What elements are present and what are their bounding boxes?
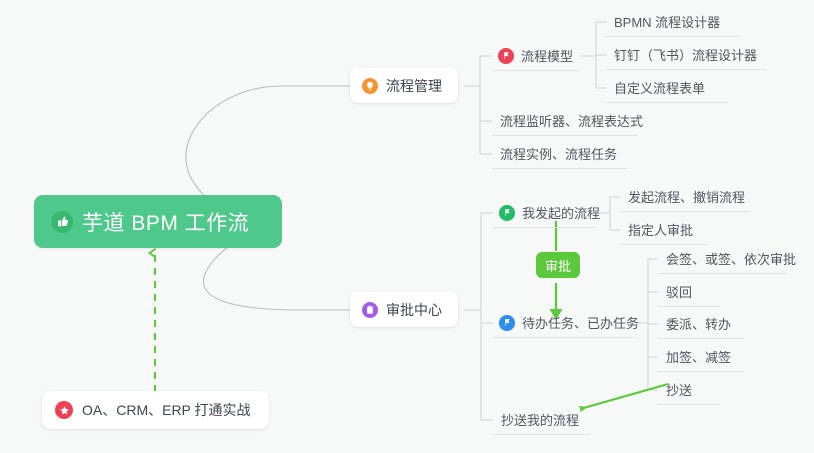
tree-node-reject[interactable]: 驳回 bbox=[658, 277, 720, 307]
clipboard-icon bbox=[362, 302, 378, 318]
tree-node-label: 发起流程、撤销流程 bbox=[628, 187, 745, 206]
branch-label: 流程管理 bbox=[386, 76, 442, 96]
tree-node-label: 流程监听器、流程表达式 bbox=[500, 111, 643, 130]
tree-node-my-initiated[interactable]: 我发起的流程 bbox=[493, 198, 594, 228]
flag-icon bbox=[499, 205, 515, 221]
tree-node-label: 待办任务、已办任务 bbox=[522, 313, 639, 332]
tree-node-dingtalk-designer[interactable]: 钉钉（飞书）流程设计器 bbox=[606, 40, 766, 70]
branch-node-approval-center[interactable]: 审批中心 bbox=[350, 292, 458, 327]
tree-node-cc-to-me[interactable]: 抄送我的流程 bbox=[493, 405, 590, 435]
tree-node-label: 抄送 bbox=[666, 380, 692, 399]
root-label: 芋道 BPM 工作流 bbox=[82, 207, 249, 237]
tree-node-label: 钉钉（飞书）流程设计器 bbox=[614, 45, 757, 64]
tree-node-label: 自定义流程表单 bbox=[614, 78, 705, 97]
branch-node-process-management[interactable]: 流程管理 bbox=[350, 68, 458, 103]
callout-label: OA、CRM、ERP 打通实战 bbox=[82, 400, 251, 420]
tree-node-bpmn-designer[interactable]: BPMN 流程设计器 bbox=[606, 7, 740, 37]
thumbs-up-icon bbox=[51, 211, 73, 233]
tree-node-listener-expression[interactable]: 流程监听器、流程表达式 bbox=[492, 106, 637, 136]
tree-node-delegate-transfer[interactable]: 委派、转办 bbox=[658, 309, 744, 339]
tree-node-instance-task[interactable]: 流程实例、流程任务 bbox=[492, 139, 627, 169]
lightbulb-icon bbox=[362, 78, 378, 94]
tree-node-label: 会签、或签、依次审批 bbox=[666, 249, 796, 268]
tree-node-add-remove-sign[interactable]: 加签、减签 bbox=[658, 342, 744, 372]
tree-node-countersign[interactable]: 会签、或签、依次审批 bbox=[658, 244, 787, 274]
flag-icon bbox=[499, 315, 515, 331]
branch-label: 审批中心 bbox=[386, 300, 442, 320]
tree-node-custom-form[interactable]: 自定义流程表单 bbox=[606, 73, 728, 103]
tree-node-label: BPMN 流程设计器 bbox=[614, 12, 720, 31]
tree-node-label: 抄送我的流程 bbox=[501, 410, 579, 429]
callout-integration-practice[interactable]: OA、CRM、ERP 打通实战 bbox=[42, 391, 269, 429]
tree-node-label: 指定人审批 bbox=[628, 220, 693, 239]
tree-node-process-model[interactable]: 流程模型 bbox=[492, 41, 580, 71]
tree-node-label: 驳回 bbox=[666, 282, 692, 301]
mindmap-canvas: 芋道 BPM 工作流 流程管理 流程模型 BPMN 流程设计器 钉钉（飞书）流程… bbox=[0, 0, 814, 453]
tree-node-assignee-approval[interactable]: 指定人审批 bbox=[620, 215, 706, 245]
star-icon bbox=[55, 401, 73, 419]
tree-node-label: 我发起的流程 bbox=[522, 203, 600, 222]
badge-label: 审批 bbox=[545, 256, 571, 275]
tree-node-cc[interactable]: 抄送 bbox=[658, 375, 720, 405]
root-node[interactable]: 芋道 BPM 工作流 bbox=[34, 195, 282, 248]
tree-node-todo-done-tasks[interactable]: 待办任务、已办任务 bbox=[493, 308, 634, 338]
badge-approval: 审批 bbox=[536, 252, 580, 278]
flag-icon bbox=[498, 48, 514, 64]
tree-node-label: 流程实例、流程任务 bbox=[500, 144, 617, 163]
tree-node-label: 流程模型 bbox=[521, 46, 573, 65]
tree-node-label: 委派、转办 bbox=[666, 314, 731, 333]
tree-node-label: 加签、减签 bbox=[666, 347, 731, 366]
tree-node-start-cancel[interactable]: 发起流程、撤销流程 bbox=[620, 182, 751, 212]
